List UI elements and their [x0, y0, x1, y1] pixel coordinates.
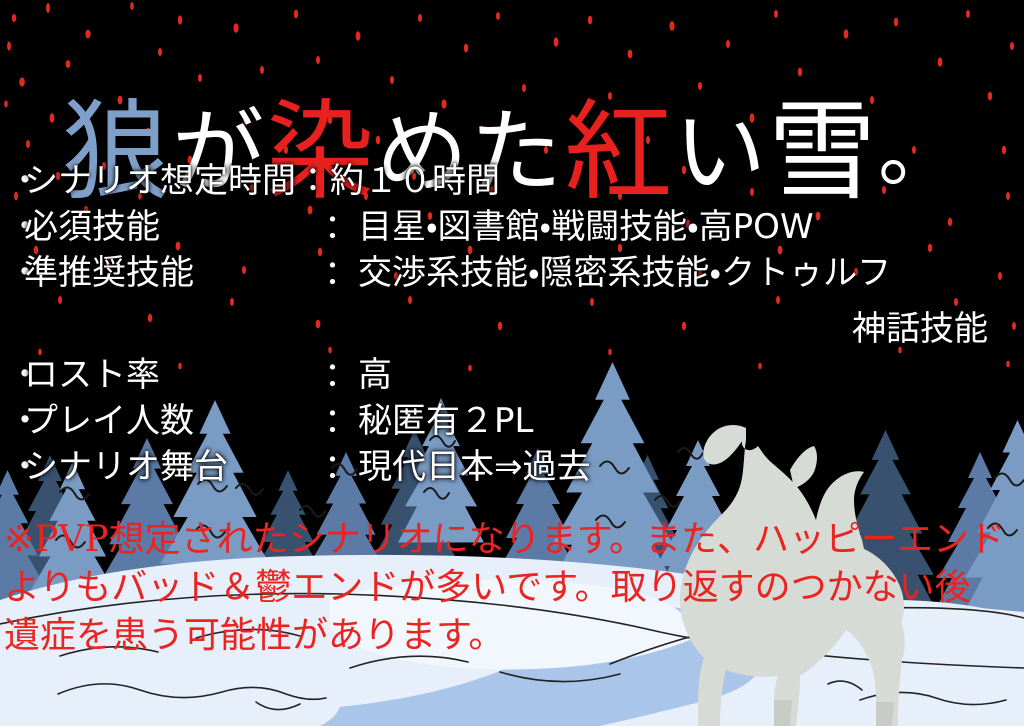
spec-colon-setting: ：: [324, 444, 358, 491]
bullet-mark: ・: [8, 352, 24, 399]
spec-row-required-skills: ・ 必須技能 ： 目星・図書館・戦闘技能・高POW: [8, 204, 1016, 250]
spec-label-duration: シナリオ想定時間: [24, 161, 296, 201]
spec-label-lost-rate: ロスト率: [24, 352, 324, 399]
spec-label-player-count: プレイ人数: [24, 398, 324, 445]
spec-value-required-skills: 目星・図書館・戦闘技能・高POW: [358, 204, 1016, 250]
spec-value-player-count: 秘匿有２PL: [358, 398, 1016, 445]
bullet-mark: ・: [8, 444, 24, 491]
spec-row-lost-rate: ・ ロスト率 ： 高: [8, 352, 1016, 398]
spec-label-recommended-skills: 準推奨技能: [24, 250, 324, 296]
bullet-mark: ・: [8, 158, 24, 204]
bullet-mark: ・: [8, 250, 24, 296]
spec-row-player-count: ・ プレイ人数 ： 秘匿有２PL: [8, 398, 1016, 444]
spec-colon-player-count: ：: [324, 398, 358, 445]
spec-value-recommended-skills-continuation: 神話技能: [8, 306, 1016, 352]
spec-row-setting: ・ シナリオ舞台 ： 現代日本⇒過去: [8, 444, 1016, 490]
spec-value-duration: 約１０時間: [330, 161, 500, 201]
content-warning-note: ※PVP想定されたシナリオになります。また、ハッピーエンド よりもバッド＆鬱エン…: [4, 516, 1020, 660]
warning-line-3: 遺症を患う可能性があります。: [4, 612, 1020, 660]
poster-root: 狼が染めた紅い雪。 ・ シナリオ想定時間：約１０時間 ・ 必須技能 ： 目星・図…: [0, 0, 1024, 726]
bullet-mark: ・: [8, 204, 24, 250]
spec-label-required-skills: 必須技能: [24, 204, 324, 250]
spec-duration-inline: シナリオ想定時間：約１０時間: [24, 158, 500, 204]
spec-colon-duration: ：: [296, 161, 330, 201]
scenario-spec-list-secondary: ・ ロスト率 ： 高 ・ プレイ人数 ： 秘匿有２PL ・ シナリオ舞台 ： 現…: [8, 352, 1016, 490]
scenario-spec-list-primary: ・ シナリオ想定時間：約１０時間 ・ 必須技能 ： 目星・図書館・戦闘技能・高P…: [8, 158, 1016, 352]
spec-value-setting: 現代日本⇒過去: [358, 444, 1016, 491]
spec-row-duration: ・ シナリオ想定時間：約１０時間: [8, 158, 1016, 204]
warning-line-2: よりもバッド＆鬱エンドが多いです。取り返すのつかない後: [4, 564, 1020, 612]
spec-value-lost-rate: 高: [358, 352, 1016, 399]
spec-colon-recommended-skills: ：: [324, 250, 358, 296]
warning-line-1: ※PVP想定されたシナリオになります。また、ハッピーエンド: [4, 516, 1020, 564]
spec-colon-required-skills: ：: [324, 204, 358, 250]
spec-value-recommended-skills: 交渉系技能・隠密系技能・クトゥルフ: [358, 250, 1016, 296]
spec-colon-lost-rate: ：: [324, 352, 358, 399]
spec-row-recommended-skills: ・ 準推奨技能 ： 交渉系技能・隠密系技能・クトゥルフ: [8, 250, 1016, 296]
spec-label-setting: シナリオ舞台: [24, 444, 324, 491]
bullet-mark: ・: [8, 398, 24, 445]
